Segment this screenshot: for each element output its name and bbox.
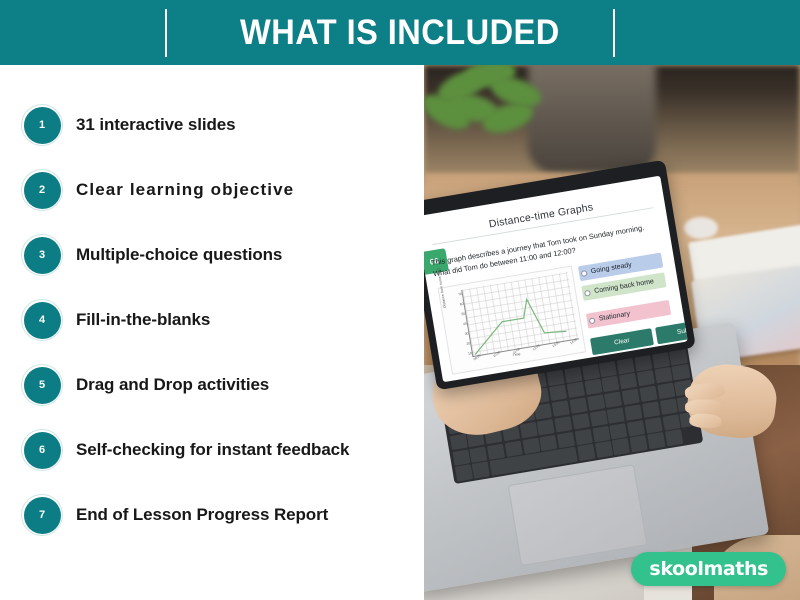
list-item: 4 Fill-in-the-blanks (19, 297, 419, 343)
feature-badge: 3 (19, 232, 65, 278)
plant-pot (528, 65, 656, 173)
list-item: 7 End of Lesson Progress Report (19, 492, 419, 538)
feature-number: 6 (24, 432, 61, 469)
laptop-screen: Distance-time Graphs 06 This graph descr… (424, 176, 688, 383)
feature-label: End of Lesson Progress Report (76, 505, 328, 525)
list-item: 6 Self-checking for instant feedback (19, 427, 419, 473)
feature-number: 7 (24, 497, 61, 534)
feature-number: 2 (24, 172, 61, 209)
feature-badge: 7 (19, 492, 65, 538)
radio-button-icon[interactable] (589, 317, 596, 324)
computer-mouse (684, 217, 718, 239)
page-header: WHAT IS INCLUDED (0, 0, 800, 65)
hero-photo: Distance-time Graphs 06 This graph descr… (424, 65, 800, 600)
distance-time-graph: Distance from home (km) Time 10 20 30 40… (438, 265, 587, 374)
answer-option-label: Stationary (598, 311, 630, 323)
list-item: 5 Drag and Drop activities (19, 362, 419, 408)
feature-label: Clear learning objective (76, 180, 294, 200)
feature-number: 4 (24, 302, 61, 339)
feature-number: 3 (24, 237, 61, 274)
answer-option-label: Going steady (590, 262, 632, 276)
feature-badge: 5 (19, 362, 65, 408)
submit-button[interactable]: Submit (655, 317, 688, 344)
feature-badge: 2 (19, 167, 65, 213)
feature-label: Self-checking for instant feedback (76, 440, 349, 460)
radio-button-icon[interactable] (584, 289, 591, 296)
list-item: 1 31 interactive slides (19, 102, 419, 148)
answer-option-stationary[interactable]: Stationary (586, 300, 671, 329)
logo-text: skoolmaths (649, 558, 768, 580)
header-divider-left (165, 9, 167, 57)
feature-list: 1 31 interactive slides 2 Clear learning… (0, 65, 424, 600)
feature-number: 5 (24, 367, 61, 404)
feature-label: 31 interactive slides (76, 115, 236, 135)
feature-label: Multiple-choice questions (76, 245, 282, 265)
answer-option-label: Coming back home (594, 278, 655, 295)
page-title: WHAT IS INCLUDED (240, 13, 560, 53)
skoolmaths-logo: skoolmaths (631, 552, 786, 586)
feature-label: Drag and Drop activities (76, 375, 269, 395)
feature-number: 1 (24, 107, 61, 144)
laptop-trackpad (508, 464, 648, 566)
feature-badge: 6 (19, 427, 65, 473)
header-divider-right (613, 9, 615, 57)
feature-badge: 1 (19, 102, 65, 148)
list-item: 2 Clear learning objective (19, 167, 419, 213)
list-item: 3 Multiple-choice questions (19, 232, 419, 278)
clear-button[interactable]: Clear (590, 328, 654, 355)
feature-badge: 4 (19, 297, 65, 343)
radio-button-icon[interactable] (581, 270, 588, 277)
feature-label: Fill-in-the-blanks (76, 310, 210, 330)
